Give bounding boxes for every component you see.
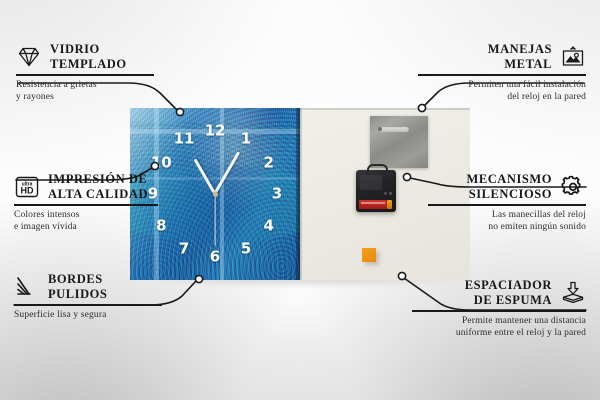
callout-rule <box>14 304 162 306</box>
clock-second-hand <box>214 194 215 246</box>
battery <box>359 200 387 209</box>
metal-hanger-plate <box>370 116 428 168</box>
callout-header: MECANISMO SILENCIOSO <box>426 172 586 201</box>
mechanism-screw-1 <box>389 192 392 195</box>
mechanism-body-panel <box>360 175 382 190</box>
callout-mecanismo-silencioso: MECANISMO SILENCIOSO Las manecillas del … <box>426 172 586 233</box>
callout-description: Colores intensos e imagen vívida <box>14 209 160 233</box>
product-image: 121234567891011 <box>130 108 470 280</box>
clock-numeral-1: 1 <box>241 132 251 147</box>
clock-mechanism <box>356 170 396 212</box>
clock-numeral-12: 12 <box>205 124 226 139</box>
gear-icon <box>560 175 586 199</box>
battery-label-stripe <box>361 202 385 204</box>
clock-center-cap <box>213 192 218 197</box>
clock-numeral-4: 4 <box>263 218 273 233</box>
callout-description: Permiten una fácil instalación del reloj… <box>416 79 586 103</box>
battery-terminal <box>387 200 392 209</box>
callout-rule <box>412 310 586 312</box>
callout-bordes-pulidos: BORDES PULIDOS Superficie lisa y segura <box>14 272 164 321</box>
polished-edges-icon <box>14 275 40 299</box>
diamond-icon <box>16 45 42 69</box>
clock-numeral-2: 2 <box>263 155 273 170</box>
callout-header: MANEJAS METAL <box>416 42 586 71</box>
callout-rule <box>428 204 586 206</box>
clock-numeral-11: 11 <box>174 132 195 147</box>
callout-espaciador-espuma: ESPACIADOR DE ESPUMA Permite mantener un… <box>410 278 586 339</box>
callout-header: BORDES PULIDOS <box>14 272 164 301</box>
callout-description: Superficie lisa y segura <box>14 309 164 321</box>
foam-spacer <box>362 248 376 262</box>
callout-title: ESPACIADOR DE ESPUMA <box>465 278 552 307</box>
callout-header: VIDRIO TEMPLADO <box>16 42 156 71</box>
callout-header: ESPACIADOR DE ESPUMA <box>410 278 586 307</box>
clock-numeral-6: 6 <box>210 250 220 265</box>
hanger-slot <box>379 126 409 132</box>
infographic-canvas: 121234567891011 <box>0 0 600 400</box>
callout-title: MANEJAS METAL <box>488 42 552 71</box>
callout-description: Las manecillas del reloj no emiten ningú… <box>426 209 586 233</box>
mechanism-screw-2 <box>384 192 387 195</box>
back-panel-top-edge <box>300 108 470 110</box>
clock-numeral-10: 10 <box>151 155 172 170</box>
callout-vidrio-templado: VIDRIO TEMPLADO Resistencia a grietas y … <box>16 42 156 103</box>
hanger-hole <box>378 127 382 131</box>
callout-rule <box>418 74 586 76</box>
callout-header: ultra HD IMPRESIÓN DE ALTA CALIDAD <box>14 172 160 201</box>
callout-title: VIDRIO TEMPLADO <box>50 42 127 71</box>
callout-title: IMPRESIÓN DE ALTA CALIDAD <box>48 172 148 201</box>
callout-manejas-metal: MANEJAS METAL Permiten una fácil instala… <box>416 42 586 103</box>
foam-spacer-icon <box>560 281 586 305</box>
clock-numeral-3: 3 <box>272 187 282 202</box>
callout-description: Permite mantener una distancia uniforme … <box>410 315 586 339</box>
callout-title: MECANISMO SILENCIOSO <box>466 172 552 201</box>
callout-description: Resistencia a grietas y rayones <box>16 79 156 103</box>
callout-rule <box>16 74 154 76</box>
clock-numeral-5: 5 <box>241 241 251 256</box>
callout-title: BORDES PULIDOS <box>48 272 107 301</box>
back-panel-inner-edge <box>300 108 302 280</box>
picture-hanger-icon <box>560 45 586 69</box>
callout-rule <box>14 204 158 206</box>
mechanism-hanging-loop <box>367 164 388 175</box>
ultra-hd-icon: ultra HD <box>14 175 40 199</box>
callout-impresion-alta-calidad: ultra HD IMPRESIÓN DE ALTA CALIDAD Color… <box>14 172 160 233</box>
clock-numeral-7: 7 <box>179 241 189 256</box>
svg-text:HD: HD <box>21 185 34 195</box>
